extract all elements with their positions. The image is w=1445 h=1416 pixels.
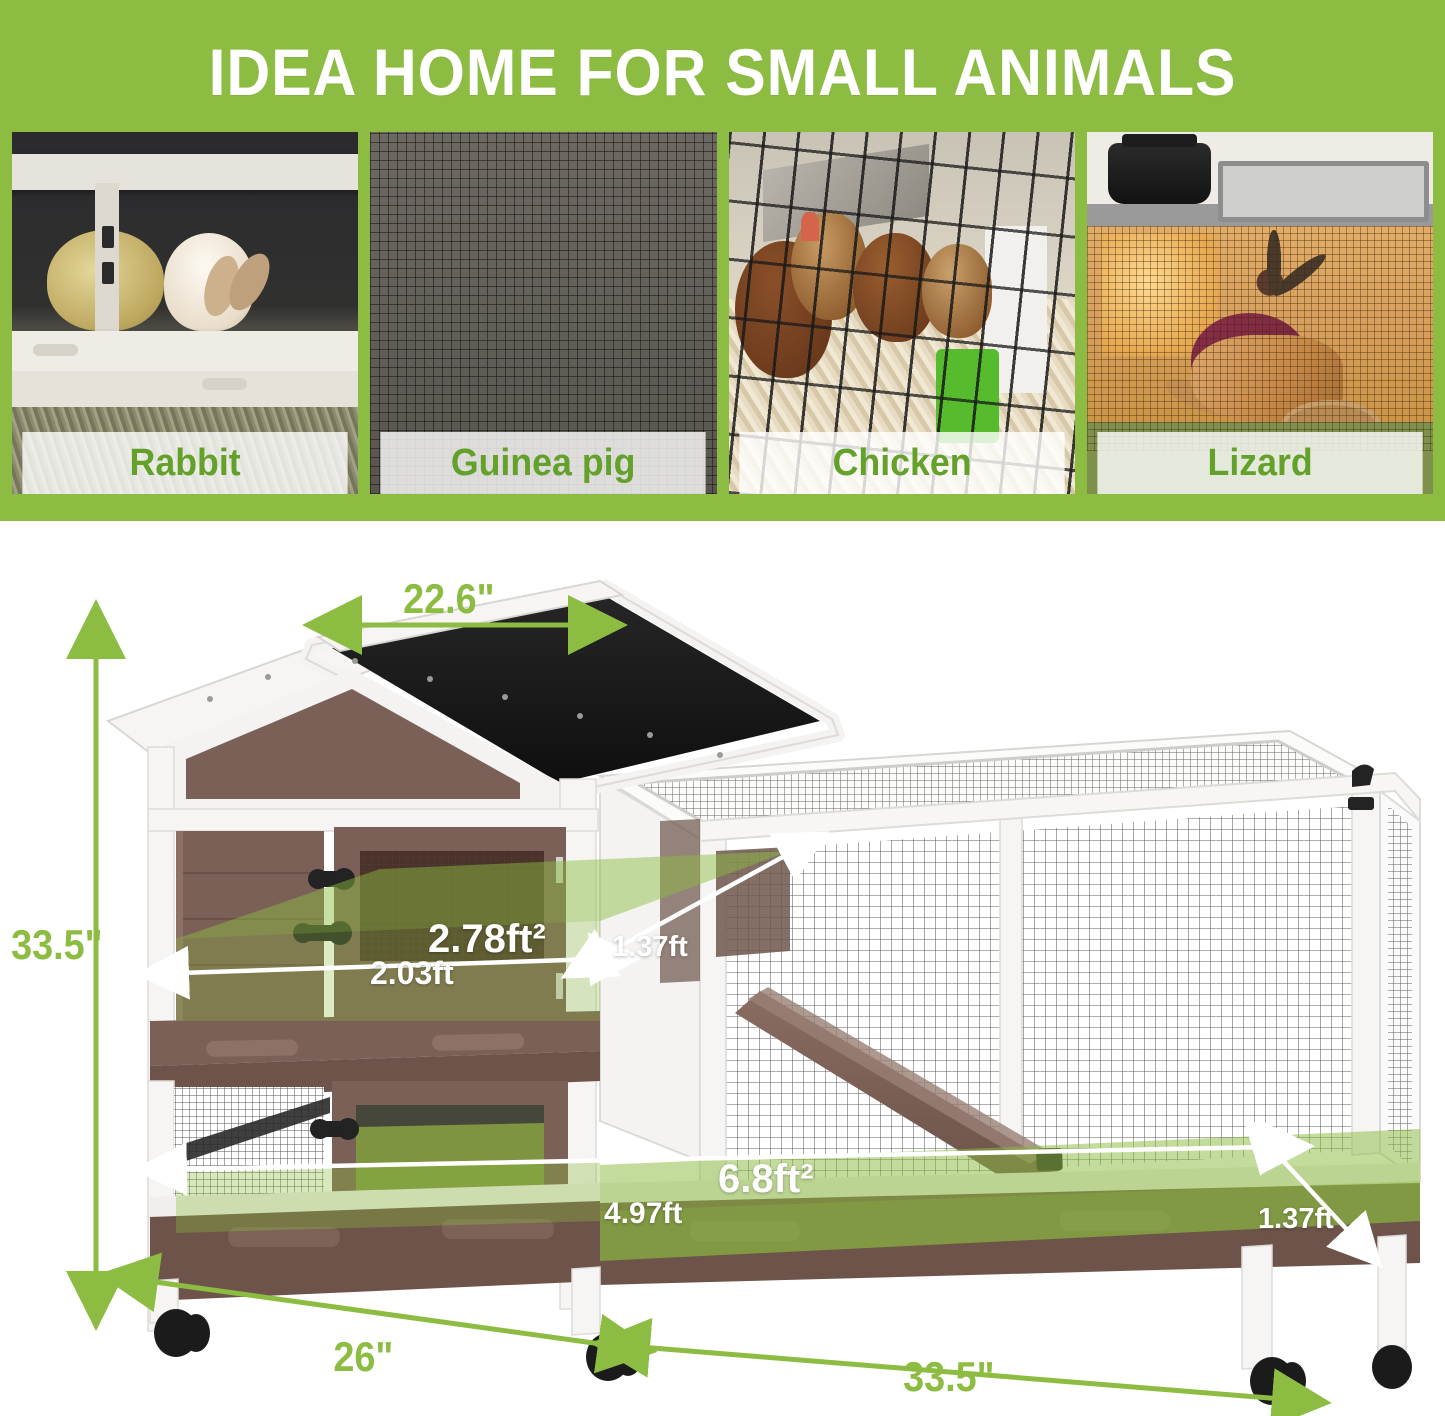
photo-caption-chicken: Chicken — [739, 432, 1064, 494]
photo-caption-rabbit: Rabbit — [22, 432, 347, 494]
dimension-label-house-width: 26" — [333, 1333, 393, 1381]
dimension-label-lower-width: 4.97ft — [604, 1197, 682, 1231]
area-label-lower-run: 6.8ft² — [718, 1157, 814, 1202]
dimension-label-run-width: 33.5" — [903, 1353, 995, 1401]
photo-caption-guinea-pig: Guinea pig — [381, 432, 706, 494]
dimension-label-lower-depth: 1.37ft — [1258, 1203, 1334, 1236]
photo-card-chicken: Chicken — [729, 132, 1075, 494]
photo-caption-lizard: Lizard — [1097, 432, 1422, 494]
page-title: IDEA HOME FOR SMALL ANIMALS — [58, 34, 1387, 110]
photo-card-rabbit: Rabbit — [12, 132, 358, 494]
photo-card-guinea-pig: Guinea pig — [370, 132, 716, 494]
animal-photo-strip: Rabbit Guinea pig — [12, 132, 1433, 494]
product-dimension-diagram: 22.6" 33.5" 26" 33.5" 2.78ft² 2.03ft 1.3… — [0, 521, 1445, 1416]
dimension-label-total-height: 33.5" — [11, 921, 103, 969]
photo-card-lizard: Lizard — [1087, 132, 1433, 494]
dimension-label-roof-depth: 22.6" — [403, 575, 495, 623]
dimension-label-upper-depth: 1.37ft — [612, 931, 688, 964]
dimension-label-upper-width: 2.03ft — [370, 955, 454, 992]
hutch-illustration — [0, 521, 1445, 1416]
header-banner: IDEA HOME FOR SMALL ANIMALS Rabbit — [0, 0, 1445, 521]
